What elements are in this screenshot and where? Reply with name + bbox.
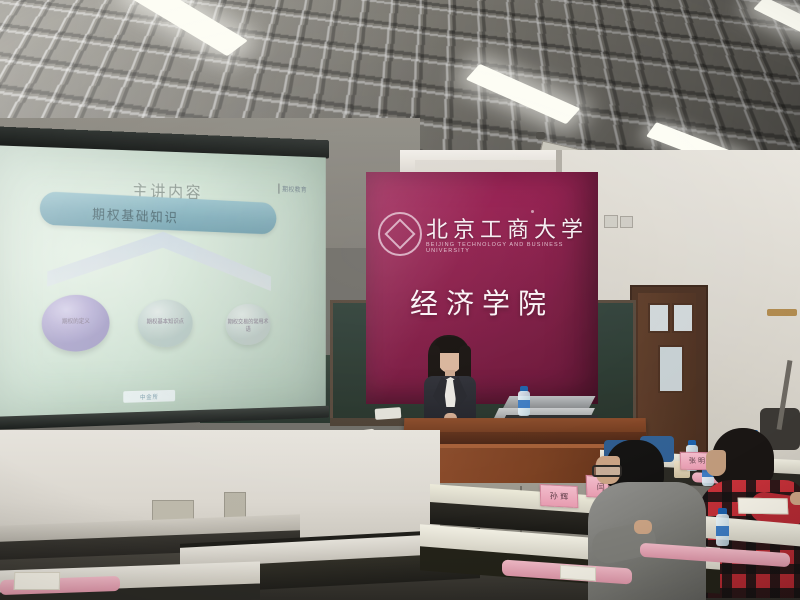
bottle-label: [518, 400, 530, 408]
paper-sheet-2[interactable]: [14, 572, 61, 590]
wall-switch-1[interactable]: [604, 215, 618, 228]
student-plaid-face: [706, 450, 726, 476]
university-seal-inner-icon: [384, 218, 415, 249]
student-gray-hand: [634, 520, 652, 534]
banner-speck-2: [540, 224, 542, 226]
paper-sheet-1[interactable]: [738, 498, 789, 515]
event-banner: 北京工商大学 BEIJING TECHNOLOGY AND BUSINESS U…: [366, 172, 598, 404]
water-bottle-1[interactable]: [714, 508, 730, 548]
university-seal-icon: [378, 212, 422, 256]
college-name-cn: 经济学院: [410, 282, 554, 322]
coat-hook-rail: [767, 309, 797, 316]
banner-speck-1: [531, 210, 534, 213]
door-window-pane-2: [672, 303, 694, 333]
bottle-label: [716, 526, 729, 536]
student-plaid-hand: [790, 492, 800, 505]
lecture-hall-photo: 北京工商大学 BEIJING TECHNOLOGY AND BUSINESS U…: [0, 0, 800, 600]
projection-screen: 主讲内容 期权教育 期权基础知识 期权的定义 期权基本知识点 期权交易的常用术语…: [0, 126, 329, 451]
name-card-1: 孙 辉: [540, 484, 579, 508]
door-window-pane-3: [658, 345, 684, 393]
ceiling-sensor-icon: [536, 132, 545, 139]
wall-switch-2[interactable]: [620, 216, 633, 228]
eyeglasses-icon: [592, 465, 622, 477]
chalkboard-eraser[interactable]: [375, 407, 402, 420]
university-name-en: BEIJING TECHNOLOGY AND BUSINESS UNIVERSI…: [426, 242, 598, 254]
university-name-cn: 北京工商大学: [426, 212, 588, 244]
paper-sheet-3[interactable]: [560, 565, 596, 582]
podium-water-bottle[interactable]: [517, 386, 530, 416]
door-window-pane-1: [648, 303, 670, 333]
screen-glare: [0, 145, 326, 419]
